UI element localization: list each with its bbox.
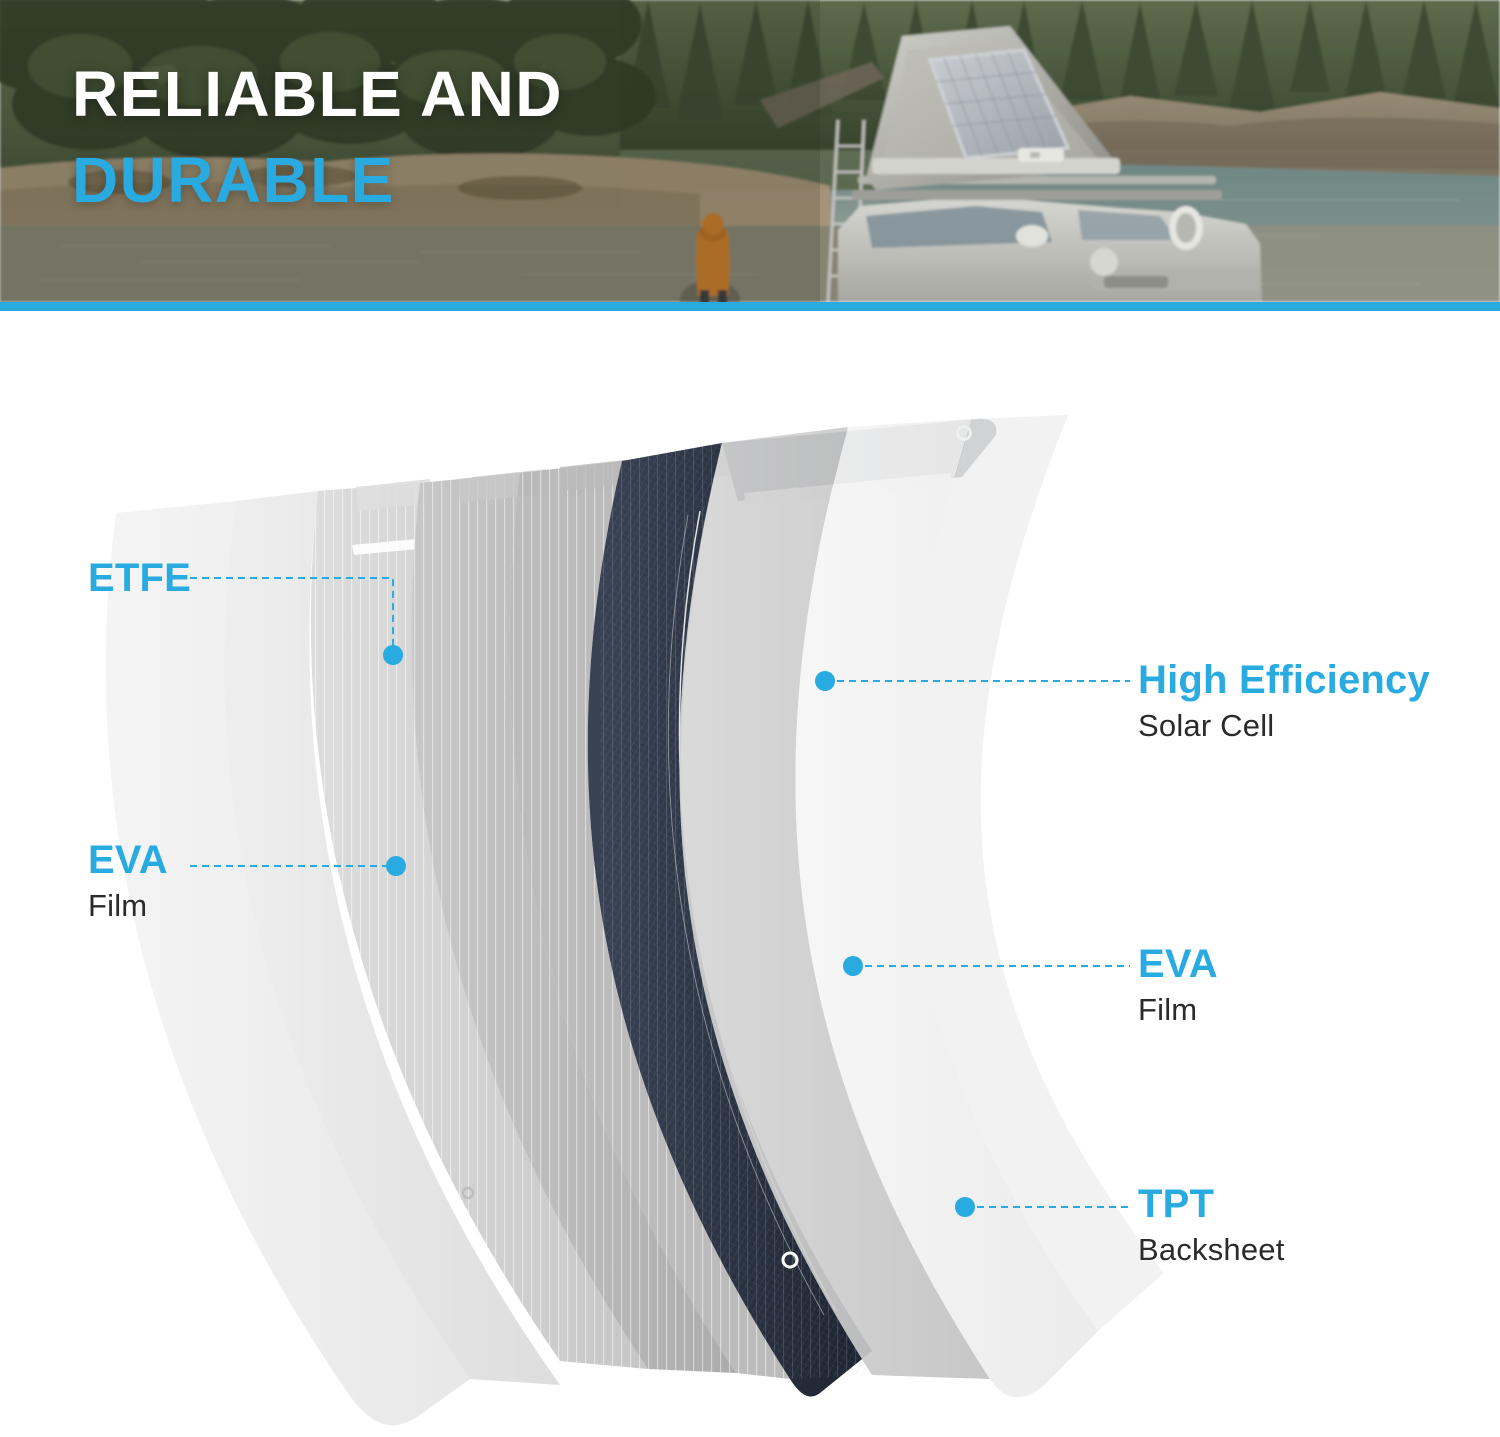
callout-eva-left-subtitle: Film [88,888,168,924]
callout-solar-cell-title: High Efficiency [1138,660,1430,701]
dot-etfe [383,645,403,665]
callout-eva-left-title: EVA [88,840,168,881]
callout-eva-right: EVA Film [1138,944,1218,1027]
dot-tpt [955,1197,975,1217]
callout-solar-cell-subtitle: Solar Cell [1138,708,1430,744]
layer-stack-svg [0,311,1500,1437]
layer-exploded-diagram [0,311,1500,1437]
callout-tpt-subtitle: Backsheet [1138,1232,1285,1268]
hero-accent-bar [0,302,1500,311]
callout-eva-right-title: EVA [1138,944,1218,985]
hero-title: RELIABLE AND DURABLE [72,62,972,212]
callout-solar-cell: High Efficiency Solar Cell [1138,660,1430,743]
hero-banner: RELIABLE AND DURABLE [0,0,1500,302]
dot-eva-right [843,956,863,976]
hero-title-line2: DURABLE [72,148,972,212]
product-infographic-page: RELIABLE AND DURABLE [0,0,1500,1437]
callout-etfe: ETFE [88,558,191,599]
callout-eva-right-subtitle: Film [1138,992,1218,1028]
callout-eva-left: EVA Film [88,840,168,923]
hero-title-line1: RELIABLE AND [72,62,972,126]
layer-sheets [106,415,1164,1425]
callout-tpt: TPT Backsheet [1138,1184,1285,1267]
dot-eva-left [386,856,406,876]
callout-tpt-title: TPT [1138,1184,1285,1225]
dot-solar-cell [815,671,835,691]
callout-etfe-title: ETFE [88,558,191,599]
